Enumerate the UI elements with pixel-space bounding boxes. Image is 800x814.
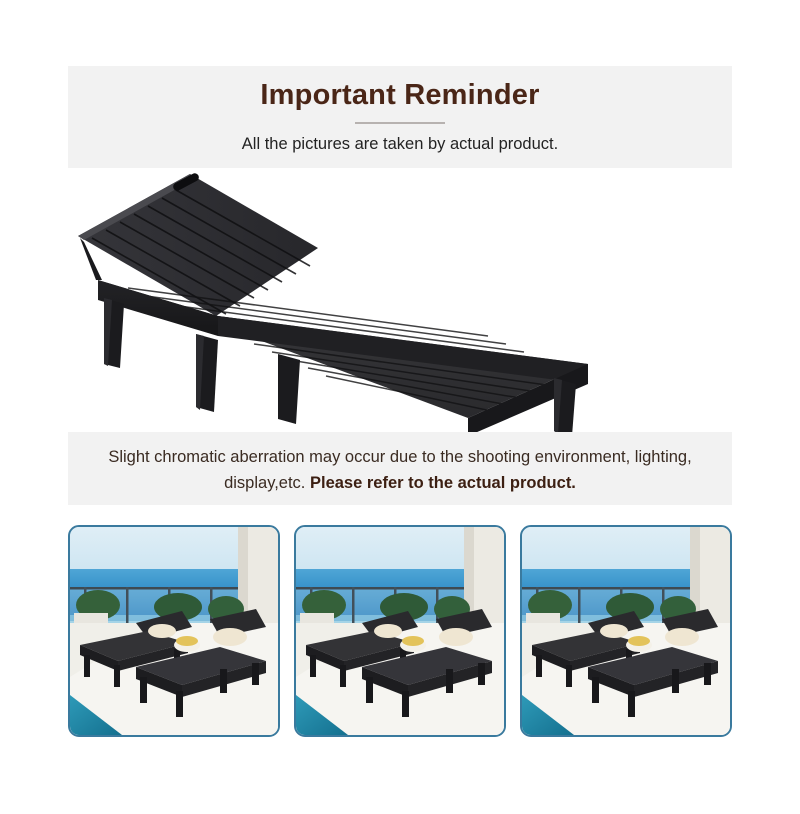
patio-scene-illustration bbox=[70, 527, 278, 735]
patio-scene-illustration bbox=[296, 527, 504, 735]
patio-scene-illustration bbox=[522, 527, 730, 735]
page-title: Important Reminder bbox=[68, 66, 732, 112]
disclaimer-line-1: Slight chromatic aberration may occur du… bbox=[108, 448, 630, 466]
lifestyle-thumbnail-2[interactable] bbox=[294, 525, 506, 737]
lifestyle-thumbnail-1[interactable] bbox=[68, 525, 280, 737]
reminder-subtitle: All the pictures are taken by actual pro… bbox=[68, 124, 732, 154]
hero-product-image bbox=[68, 168, 732, 432]
chromatic-aberration-disclaimer-panel: Slight chromatic aberration may occur du… bbox=[68, 432, 732, 505]
chaise-lounge-illustration bbox=[68, 168, 732, 432]
lifestyle-thumbnail-3[interactable] bbox=[520, 525, 732, 737]
disclaimer-line-2-bold: Please refer to the actual product. bbox=[310, 474, 576, 492]
lifestyle-thumbnail-row bbox=[68, 525, 732, 737]
disclaimer-text: Slight chromatic aberration may occur du… bbox=[68, 432, 732, 496]
important-reminder-panel: Important Reminder All the pictures are … bbox=[68, 66, 732, 168]
